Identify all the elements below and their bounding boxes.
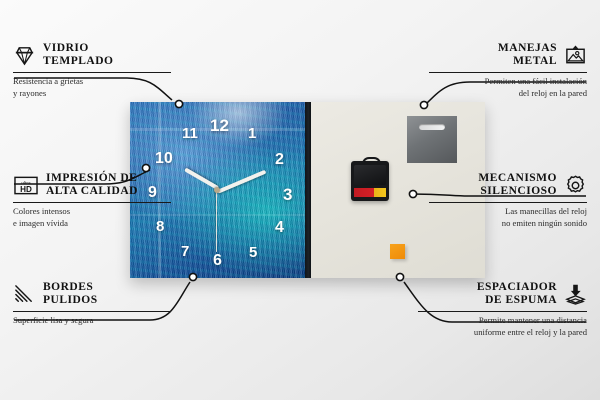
callout-divider [418,311,587,312]
clock-number-6: 6 [213,253,222,269]
callout-subtitle: Las manecillas del relojno emiten ningún… [429,206,587,229]
press-down-arrow-layers-icon [564,283,587,306]
clock-number-1: 1 [248,126,256,141]
callout-manejas-metal[interactable]: MANEJASMETAL Permiten una fácil instalac… [429,42,587,100]
callout-subtitle: Resistencia a grietasy rayones [13,76,171,99]
callout-subtitle: Colores intensose imagen vívida [13,206,171,229]
diamond-icon [13,44,36,67]
hanger-slot [419,124,445,130]
quartz-mechanism [351,161,389,201]
clock-minute-hand [217,170,266,194]
callout-divider [13,311,171,312]
mechanism-body [354,165,386,185]
foam-spacer [390,244,405,259]
callout-mecanismo-silencioso[interactable]: MECANISMOSILENCIOSO Las manecillas del r… [429,172,587,230]
clock-number-11: 11 [182,126,198,141]
ultra-hd-icon: ultra HD [13,174,39,197]
clock-number-3: 3 [283,186,292,203]
callout-divider [429,72,587,73]
callout-title: ESPACIADORDE ESPUMA [477,281,557,307]
clock-hour-hand [184,168,219,190]
callout-subtitle: Permite mantener una distanciauniforme e… [418,315,587,338]
gear-icon [564,174,587,197]
clock-second-hand [216,190,217,252]
clock-center-pin [214,187,220,193]
clock-number-4: 4 [275,220,284,236]
mechanism-label [354,188,386,197]
clock-number-2: 2 [275,152,284,168]
polished-edge-lines-icon [13,283,36,306]
callout-title: MANEJASMETAL [498,42,557,68]
svg-text:HD: HD [20,185,32,194]
callout-title: IMPRESIÓN DEALTA CALIDAD [46,172,138,198]
callout-impresion-alta-calidad[interactable]: ultra HD IMPRESIÓN DEALTA CALIDAD Colore… [13,172,171,230]
callout-title: MECANISMOSILENCIOSO [478,172,557,198]
clock-number-5: 5 [249,245,257,260]
callout-divider [429,202,587,203]
callout-subtitle: Permiten una fácil instalacióndel reloj … [429,76,587,99]
hanging-picture-frame-icon [564,44,587,67]
metal-hanger-plate [407,116,457,163]
callout-vidrio-templado[interactable]: VIDRIOTEMPLADO Resistencia a grietasy ra… [13,42,171,100]
clock-number-12: 12 [210,117,229,134]
infographic-canvas: 12 1 2 3 4 5 6 7 8 9 10 11 [0,0,600,400]
callout-bordes-pulidos[interactable]: BORDESPULIDOS Superficie lisa y segura [13,281,171,327]
clock-number-7: 7 [181,244,189,259]
callout-title: BORDESPULIDOS [43,281,98,307]
callout-title: VIDRIOTEMPLADO [43,42,113,68]
callout-espaciador-de-espuma[interactable]: ESPACIADORDE ESPUMA Permite mantener una… [418,281,587,339]
callout-divider [13,72,171,73]
callout-divider [13,202,171,203]
clock-number-10: 10 [155,151,173,167]
callout-subtitle: Superficie lisa y segura [13,315,171,327]
